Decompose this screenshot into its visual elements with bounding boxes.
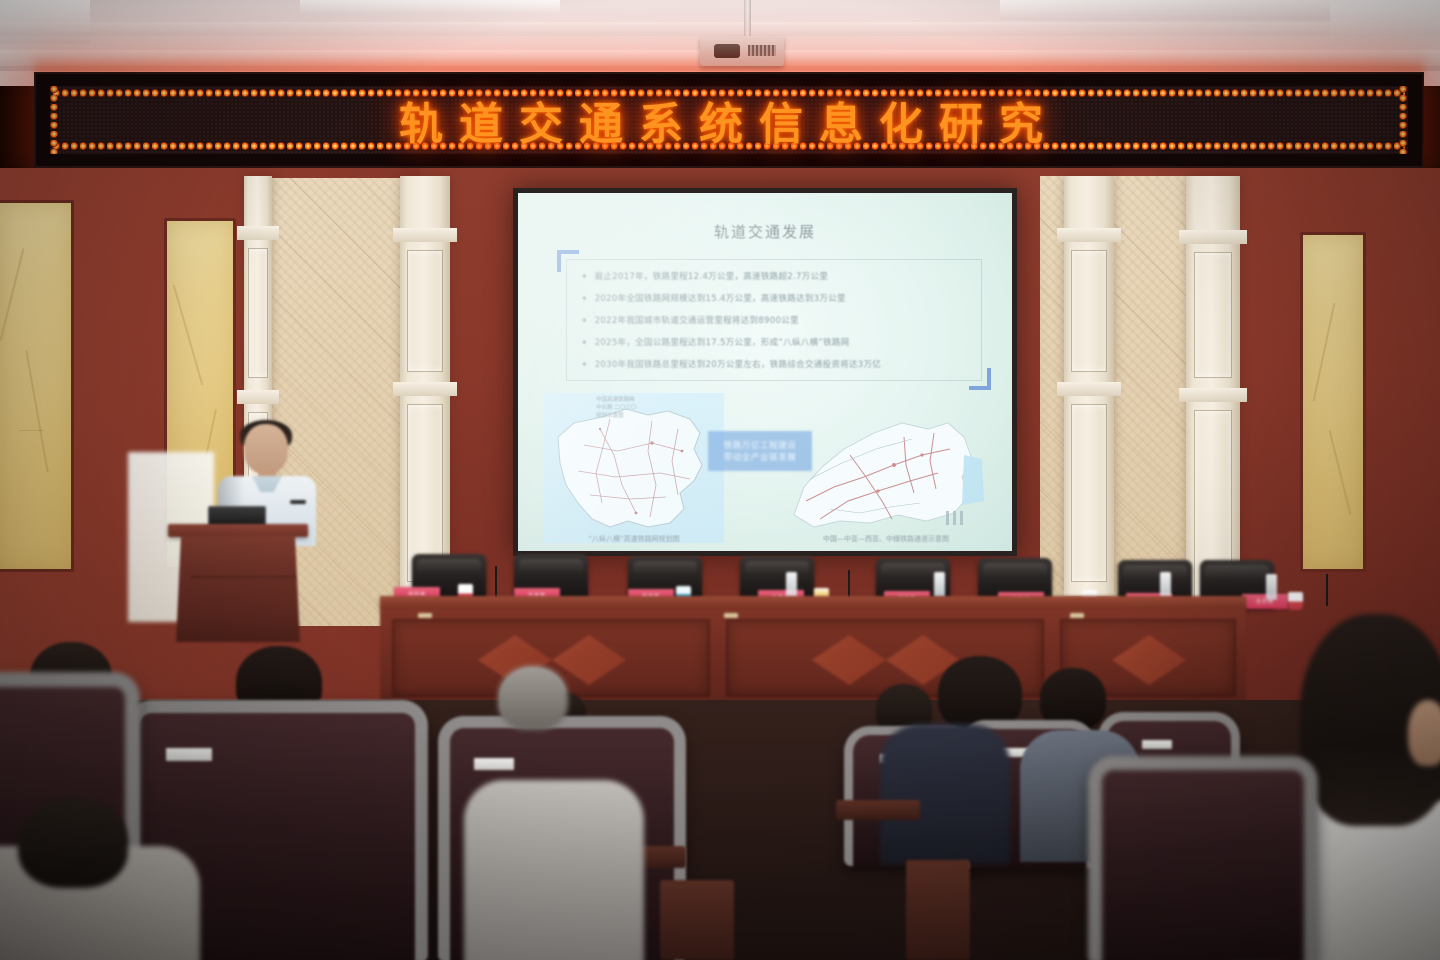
diamond-inlay-icon bbox=[552, 635, 626, 685]
audience-seat bbox=[1088, 756, 1318, 960]
diamond-inlay-icon bbox=[812, 635, 886, 685]
table-hardware-icon bbox=[1070, 613, 1084, 618]
projector-mount-pole bbox=[744, 0, 751, 40]
screen-glare bbox=[518, 193, 1012, 551]
presenter-head bbox=[244, 424, 288, 474]
presenter-microphone-icon bbox=[290, 500, 306, 504]
foreground-person-left-head bbox=[18, 798, 128, 888]
foreground-person-center-head bbox=[498, 666, 568, 730]
lectern-body bbox=[176, 536, 300, 642]
water-bottle bbox=[934, 572, 945, 598]
seat-armrest bbox=[906, 860, 970, 960]
pilaster-right bbox=[1186, 176, 1240, 626]
led-banner-text: 轨道交通系统信息化研究 bbox=[50, 88, 1408, 152]
table-microphone bbox=[1326, 574, 1328, 606]
audience-person-body bbox=[880, 724, 1010, 864]
diamond-inlay-icon bbox=[1112, 635, 1186, 685]
seat-frame bbox=[1088, 756, 1318, 960]
marble-panel-3 bbox=[1300, 232, 1366, 572]
seat-armrest bbox=[836, 800, 920, 820]
lectern bbox=[168, 524, 308, 642]
conference-room-photo: 轨道交通系统信息化研究 bbox=[0, 0, 1440, 960]
paper-cup bbox=[1288, 592, 1303, 610]
name-card: 会务席 bbox=[1242, 594, 1288, 609]
led-scrolling-banner: 轨道交通系统信息化研究 bbox=[34, 72, 1424, 168]
table-hardware-icon bbox=[724, 613, 738, 618]
projector-lens-icon bbox=[714, 44, 740, 58]
led-panel: 轨道交通系统信息化研究 bbox=[50, 86, 1408, 154]
water-bottle bbox=[1160, 572, 1171, 598]
seat-armrest bbox=[660, 880, 734, 960]
foreground-person-center bbox=[464, 780, 644, 960]
projection-screen: 轨道交通发展 ✦ 截止2017年，铁路里程12.4万公里，高速铁路超2.7万公里… bbox=[518, 193, 1012, 551]
seat-number-plate bbox=[1142, 740, 1172, 749]
water-bottle bbox=[1266, 574, 1277, 600]
water-bottle bbox=[786, 572, 797, 598]
projection-screen-frame: 轨道交通发展 ✦ 截止2017年，铁路里程12.4万公里，高速铁路超2.7万公里… bbox=[513, 188, 1017, 556]
lectern-seam bbox=[190, 576, 302, 578]
seat-number-plate bbox=[474, 758, 514, 770]
pilaster-center-right bbox=[1064, 176, 1114, 596]
ceiling-projector bbox=[700, 36, 784, 66]
marble-panel-1 bbox=[0, 200, 74, 572]
head-table-surface bbox=[380, 596, 1246, 610]
table-hardware-icon bbox=[418, 613, 432, 618]
projector-vent-icon bbox=[748, 45, 776, 56]
pilaster-center-left bbox=[400, 176, 450, 596]
foreground-person-right-ear bbox=[1408, 700, 1440, 766]
seat-number-plate bbox=[166, 748, 212, 761]
lectern-top bbox=[168, 524, 308, 537]
